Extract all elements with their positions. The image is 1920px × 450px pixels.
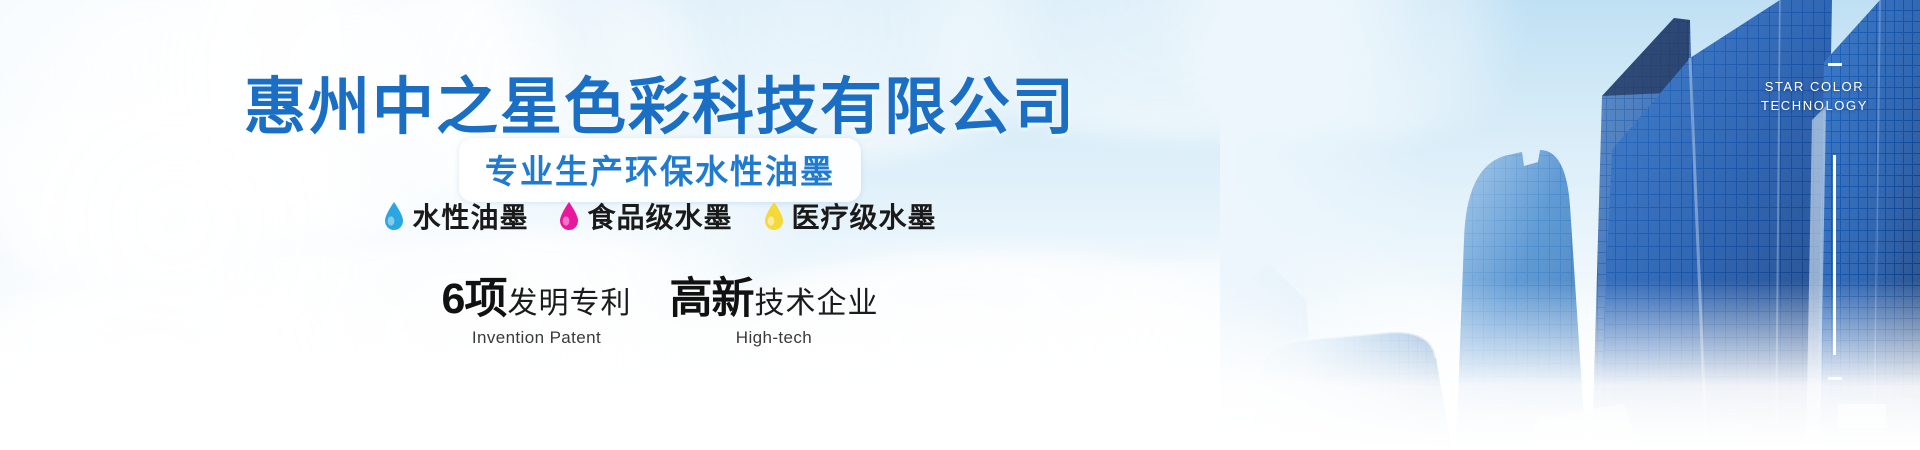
badge-line: 6项 发明专利 — [442, 264, 632, 326]
water-drop-icon — [383, 201, 405, 231]
company-banner: Star Color — [0, 0, 1920, 450]
badge-rest-text: 技术企业 — [754, 278, 878, 322]
badge-item: 6项 发明专利 Invention Patent — [442, 264, 632, 348]
brand-mark-line1: STAR COLOR — [1761, 78, 1868, 97]
brand-mark: STAR COLOR TECHNOLOGY — [1761, 78, 1868, 116]
water-drop-icon — [763, 201, 785, 231]
badge-rest-text: 发明专利 — [507, 278, 631, 322]
feature-list: 水性油墨 食品级水墨 医疗级水墨 — [0, 196, 1320, 236]
feature-item: 医疗级水墨 — [763, 196, 937, 236]
banner-content: 惠州中之星色彩科技有限公司 专业生产环保水性油墨 水性油墨 食品级水墨 — [0, 0, 1320, 450]
company-title: 惠州中之星色彩科技有限公司 — [0, 56, 1320, 146]
brand-mark-line2: TECHNOLOGY — [1761, 97, 1868, 116]
brand-tick-top — [1828, 63, 1842, 66]
badge-item: 高新 技术企业 High-tech — [669, 264, 878, 348]
feature-label: 水性油墨 — [412, 196, 528, 236]
subtitle-row: 专业生产环保水性油墨 — [0, 138, 1320, 202]
badge-strong-text: 高新 — [669, 264, 753, 326]
subtitle-pill: 专业生产环保水性油墨 — [459, 138, 861, 202]
badge-subtitle: High-tech — [669, 328, 878, 348]
water-drop-icon — [558, 201, 580, 231]
feature-item: 水性油墨 — [383, 196, 528, 236]
badge-line: 高新 技术企业 — [669, 264, 878, 326]
feature-item: 食品级水墨 — [558, 196, 732, 236]
badge-strong-text: 6项 — [442, 264, 507, 326]
feature-label: 医疗级水墨 — [792, 196, 937, 236]
badge-list: 6项 发明专利 Invention Patent 高新 技术企业 High-te… — [0, 264, 1320, 348]
badge-subtitle: Invention Patent — [442, 328, 632, 348]
feature-label: 食品级水墨 — [587, 196, 732, 236]
